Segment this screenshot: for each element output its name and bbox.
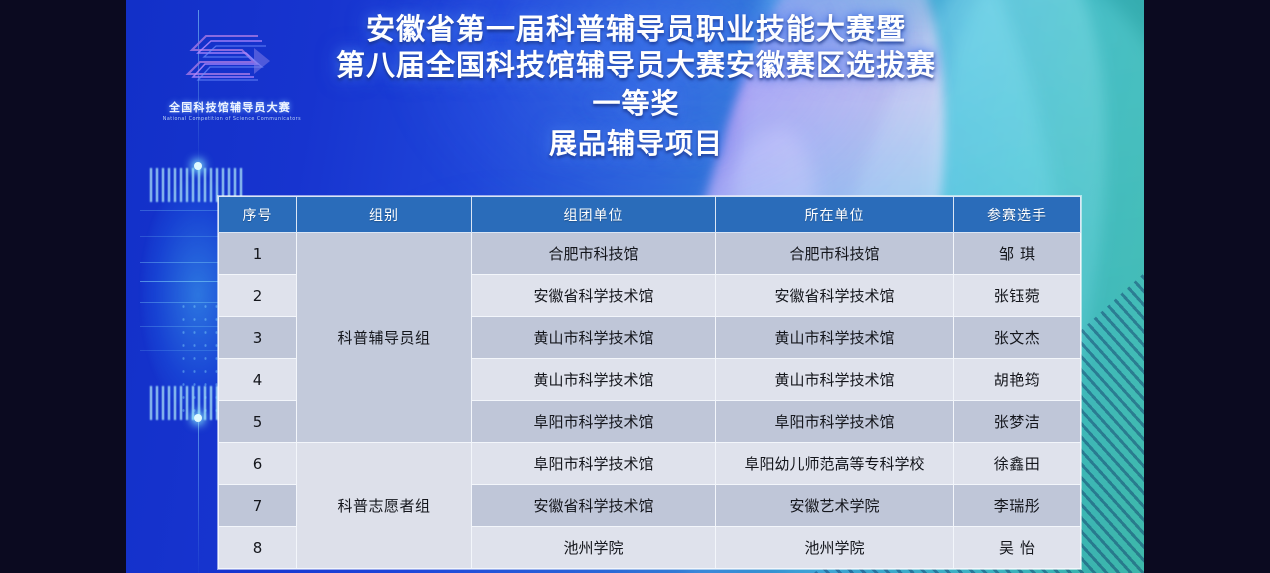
cell-sequence-number: 8 [219,527,297,569]
cell-participant-name: 张文杰 [954,317,1081,359]
cell-organization: 阜阳市科学技术馆 [716,401,954,443]
cell-team-unit: 安徽省科学技术馆 [472,485,716,527]
cell-group-1: 科普辅导员组 [297,233,472,443]
cell-participant-name: 张钰菀 [954,275,1081,317]
cell-organization: 合肥市科技馆 [716,233,954,275]
table-row: 1科普辅导员组合肥市科技馆合肥市科技馆邹琪 [219,233,1081,275]
cell-organization: 池州学院 [716,527,954,569]
cell-organization: 安徽艺术学院 [716,485,954,527]
cell-participant-name: 徐鑫田 [954,443,1081,485]
cell-team-unit: 安徽省科学技术馆 [472,275,716,317]
column-header-team: 组团单位 [472,197,716,233]
cell-organization: 安徽省科学技术馆 [716,275,954,317]
cell-team-unit: 黄山市科学技术馆 [472,317,716,359]
video-frame: 全国科技馆辅导员大赛 National Competition of Scien… [0,0,1270,573]
cell-team-unit: 阜阳市科学技术馆 [472,443,716,485]
cell-organization: 黄山市科学技术馆 [716,359,954,401]
title-line-1: 安徽省第一届科普辅导员职业技能大赛暨 [186,12,1086,46]
cell-sequence-number: 6 [219,443,297,485]
cell-organization: 黄山市科学技术馆 [716,317,954,359]
cell-sequence-number: 4 [219,359,297,401]
letterbox-left [0,0,126,573]
column-header-org: 所在单位 [716,197,954,233]
cell-participant-name: 张梦洁 [954,401,1081,443]
cell-sequence-number: 5 [219,401,297,443]
cell-sequence-number: 7 [219,485,297,527]
column-header-group: 组别 [297,197,472,233]
table-row: 6科普志愿者组阜阳市科学技术馆阜阳幼儿师范高等专科学校徐鑫田 [219,443,1081,485]
cell-participant-name: 吴怡 [954,527,1081,569]
project-category-text: 展品辅导项目 [186,127,1086,160]
letterbox-right [1144,0,1270,573]
title-line-2: 第八届全国科技馆辅导员大赛安徽赛区选拔赛 [186,48,1086,82]
cell-team-unit: 合肥市科技馆 [472,233,716,275]
cell-organization: 阜阳幼儿师范高等专科学校 [716,443,954,485]
cell-team-unit: 池州学院 [472,527,716,569]
cell-sequence-number: 2 [219,275,297,317]
cell-text: 邹琪 [993,245,1041,263]
results-table: 序号 组别 组团单位 所在单位 参赛选手 1科普辅导员组合肥市科技馆合肥市科技馆… [218,196,1081,569]
table-header-row: 序号 组别 组团单位 所在单位 参赛选手 [219,197,1081,233]
globe-ray-down [198,422,199,573]
cell-participant-name: 胡艳筠 [954,359,1081,401]
column-header-player: 参赛选手 [954,197,1081,233]
cell-participant-name: 邹琪 [954,233,1081,275]
slide-title-block: 安徽省第一届科普辅导员职业技能大赛暨 第八届全国科技馆辅导员大赛安徽赛区选拔赛 … [186,12,1086,161]
cell-text: 吴怡 [993,539,1041,557]
table-body: 1科普辅导员组合肥市科技馆合肥市科技馆邹琪2安徽省科学技术馆安徽省科学技术馆张钰… [219,233,1081,569]
award-level-text: 一等奖 [186,87,1086,120]
cell-sequence-number: 1 [219,233,297,275]
cell-sequence-number: 3 [219,317,297,359]
presentation-slide: 全国科技馆辅导员大赛 National Competition of Scien… [126,0,1144,573]
cell-team-unit: 黄山市科学技术馆 [472,359,716,401]
cell-team-unit: 阜阳市科学技术馆 [472,401,716,443]
column-header-no: 序号 [219,197,297,233]
cell-participant-name: 李瑞彤 [954,485,1081,527]
cell-group-2: 科普志愿者组 [297,443,472,569]
